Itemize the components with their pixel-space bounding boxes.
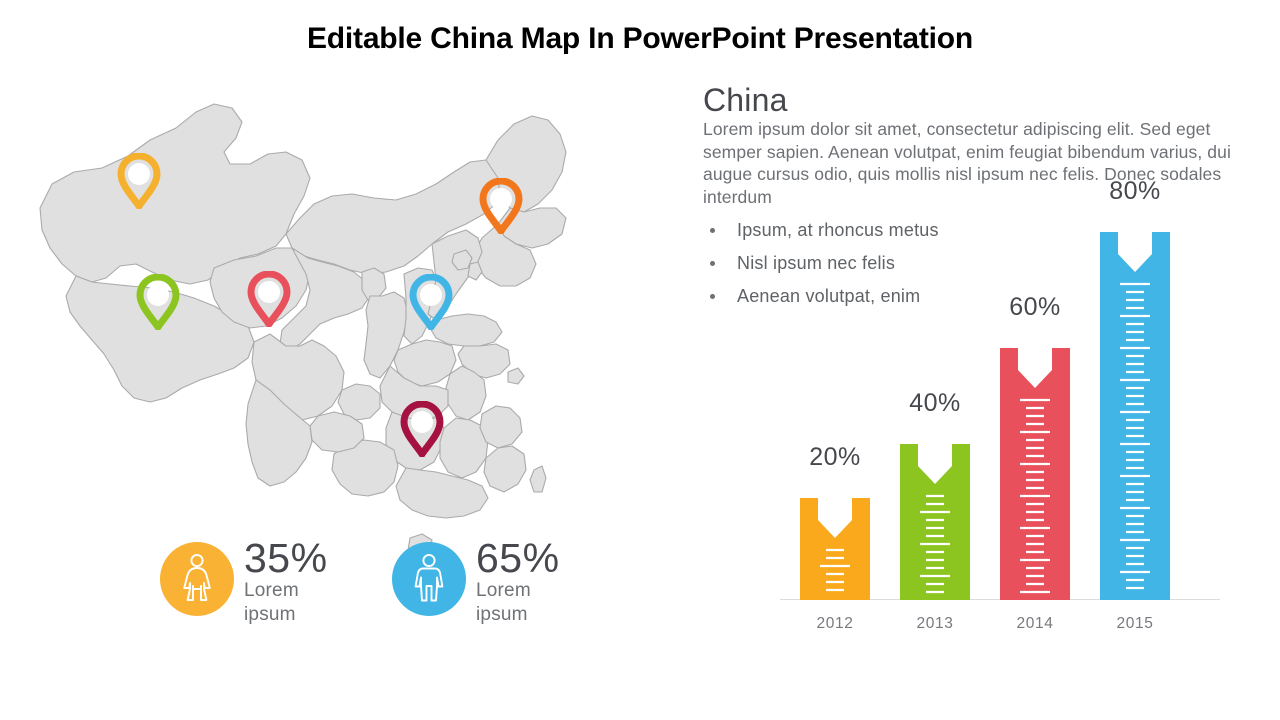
- bar-value-label: 60%: [985, 293, 1085, 322]
- bar-category-label: 2013: [885, 615, 985, 633]
- bar-chart: 20% 2012 40%: [760, 196, 1230, 636]
- bullet-dot-icon: [710, 294, 715, 299]
- gender-stats: 35% Lorem ipsum 65% Lorem ipsum: [160, 536, 680, 630]
- gender-percent: 65%: [476, 536, 560, 580]
- bar-category-label: 2015: [1085, 615, 1185, 633]
- gender-label: Lorem ipsum: [476, 579, 560, 627]
- bar-shape[interactable]: [900, 444, 970, 600]
- china-map[interactable]: [18, 68, 598, 568]
- map-pin-green[interactable]: [136, 274, 180, 330]
- bar-shape[interactable]: [1100, 232, 1170, 600]
- bullet-dot-icon: [710, 228, 715, 233]
- map-pin-yellow[interactable]: [117, 153, 161, 209]
- map-pin-magenta[interactable]: [400, 401, 444, 457]
- map-pin-blue[interactable]: [409, 274, 453, 330]
- gender-label: Lorem ipsum: [244, 579, 328, 627]
- bar-shape[interactable]: [1000, 348, 1070, 600]
- china-map-svg: [18, 68, 598, 568]
- bar-value-label: 80%: [1085, 177, 1185, 206]
- gender-stat-text: 65% Lorem ipsum: [476, 536, 560, 627]
- slide-canvas: Editable China Map In PowerPoint Present…: [0, 0, 1280, 720]
- bar-shape[interactable]: [800, 498, 870, 600]
- male-icon: [392, 542, 466, 616]
- female-icon: [160, 542, 234, 616]
- bullet-dot-icon: [710, 261, 715, 266]
- bar-value-label: 20%: [785, 443, 885, 472]
- bar-value-label: 40%: [885, 389, 985, 418]
- bar-category-label: 2012: [785, 615, 885, 633]
- bar-category-label: 2014: [985, 615, 1085, 633]
- gender-percent: 35%: [244, 536, 328, 580]
- map-pin-red[interactable]: [247, 271, 291, 327]
- gender-stat-text: 35% Lorem ipsum: [244, 536, 328, 627]
- page-title: Editable China Map In PowerPoint Present…: [0, 22, 1280, 56]
- content-heading: China: [703, 82, 788, 119]
- map-pin-orange[interactable]: [479, 178, 523, 234]
